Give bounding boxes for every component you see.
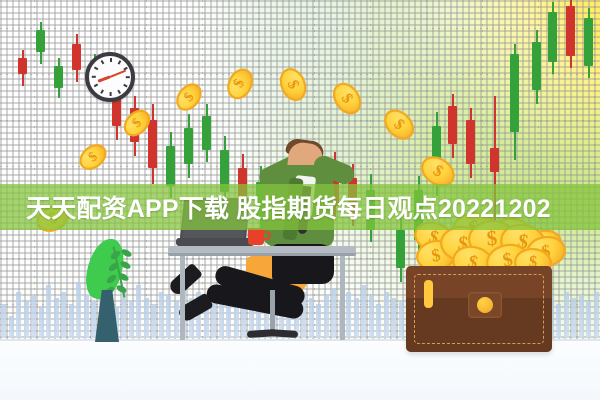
bar-chart-bar: [76, 282, 81, 338]
bar-chart-bar: [571, 298, 576, 338]
bar-chart-bar: [54, 298, 59, 338]
clock-tick: [94, 84, 98, 87]
clock-minute-hand: [110, 70, 127, 78]
candle-down: [18, 58, 27, 74]
dollar-sign-icon: $: [430, 246, 442, 265]
bar-chart-bar: [594, 292, 599, 339]
candle-up: [510, 54, 519, 132]
candle-down: [148, 120, 157, 168]
bar-chart-bar: [369, 295, 374, 338]
wallet-button-icon: [477, 297, 493, 313]
bar-chart-bar: [39, 307, 44, 338]
bar-chart-bar: [9, 316, 14, 338]
desk-top: [168, 246, 356, 253]
bar-chart-bar: [391, 298, 396, 338]
desk-leg-left: [180, 256, 185, 340]
title-banner-text: 天天配资APP下载 股指期货每日观点20221202: [26, 184, 592, 230]
bar-chart-bar: [144, 298, 149, 338]
candle-up: [584, 18, 593, 66]
candle-up: [184, 128, 193, 164]
candle-up: [166, 146, 175, 186]
dollar-sign-icon: $: [284, 78, 301, 91]
clock-tick: [110, 92, 112, 96]
clock-tick: [110, 58, 112, 62]
desk-edge: [168, 253, 356, 256]
bar-chart-bar: [564, 292, 569, 339]
clock-tick: [118, 90, 121, 94]
clock-tick: [126, 76, 130, 78]
candle-up: [54, 66, 63, 88]
bar-chart-bar: [361, 285, 366, 338]
bar-chart-bar: [91, 301, 96, 338]
candle-down: [72, 44, 81, 70]
laptop-base: [176, 238, 254, 246]
bar-chart-bar: [46, 285, 51, 338]
bar-chart-bar: [84, 295, 89, 338]
bar-chart-bar: [24, 301, 29, 338]
illustration-canvas: $$$$$$$$$$$$$$$ $$$$$$$$ 天天配资APP下载 股指期货每…: [0, 0, 600, 400]
dollar-sign-icon: $: [86, 150, 100, 165]
bar-chart-bar: [174, 301, 179, 338]
bar-chart-bar: [384, 292, 389, 339]
candle-up: [36, 30, 45, 52]
dollar-sign-icon: $: [391, 116, 408, 132]
clock-hour-hand: [97, 76, 110, 83]
bar-chart-bar: [376, 304, 381, 338]
bar-chart-bar: [586, 301, 591, 338]
bar-chart-bar: [129, 301, 134, 338]
dollar-sign-icon: $: [430, 162, 446, 180]
clock-tick: [101, 90, 104, 94]
desk-leg-right: [340, 256, 345, 340]
bar-chart-bar: [16, 292, 21, 339]
bar-chart-bar: [151, 304, 156, 338]
candle-up: [202, 116, 211, 150]
bar-chart-bar: [346, 292, 351, 339]
wallet-card-tab: [424, 280, 433, 308]
wall-clock: [85, 52, 135, 102]
bar-chart-bar: [136, 285, 141, 338]
bar-chart-bar: [556, 304, 561, 338]
dollar-sign-icon: $: [338, 91, 355, 106]
coffee-mug: [248, 228, 264, 245]
bar-chart-bar: [309, 298, 314, 338]
bar-chart-bar: [579, 295, 584, 338]
bar-chart-bar: [399, 301, 404, 338]
candle-down: [448, 106, 457, 144]
dollar-sign-icon: $: [181, 90, 196, 104]
bar-chart-bar: [354, 298, 359, 338]
bar-chart-bar: [121, 292, 126, 339]
bar-chart-bar: [166, 295, 171, 338]
bar-chart-bar: [69, 304, 74, 338]
bar-chart-bar: [61, 292, 66, 339]
clock-tick: [123, 84, 127, 87]
bar-chart-bar: [31, 295, 36, 338]
bar-chart-bar: [324, 295, 329, 338]
candle-down: [490, 148, 499, 172]
clock-tick: [118, 60, 121, 64]
clock-tick: [101, 60, 104, 64]
candle-down: [566, 6, 575, 56]
clock-tick: [92, 76, 96, 78]
candle-up: [396, 230, 405, 268]
dollar-sign-icon: $: [130, 116, 145, 131]
clock-tick: [94, 67, 98, 70]
bar-chart-bar: [331, 288, 336, 338]
dollar-sign-icon: $: [232, 77, 248, 90]
bar-chart-bar: [159, 292, 164, 339]
candle-down: [466, 120, 475, 164]
candle-up: [548, 12, 557, 62]
bar-chart-bar: [1, 304, 6, 338]
bar-chart-bar: [316, 304, 321, 338]
candle-up: [532, 42, 541, 90]
